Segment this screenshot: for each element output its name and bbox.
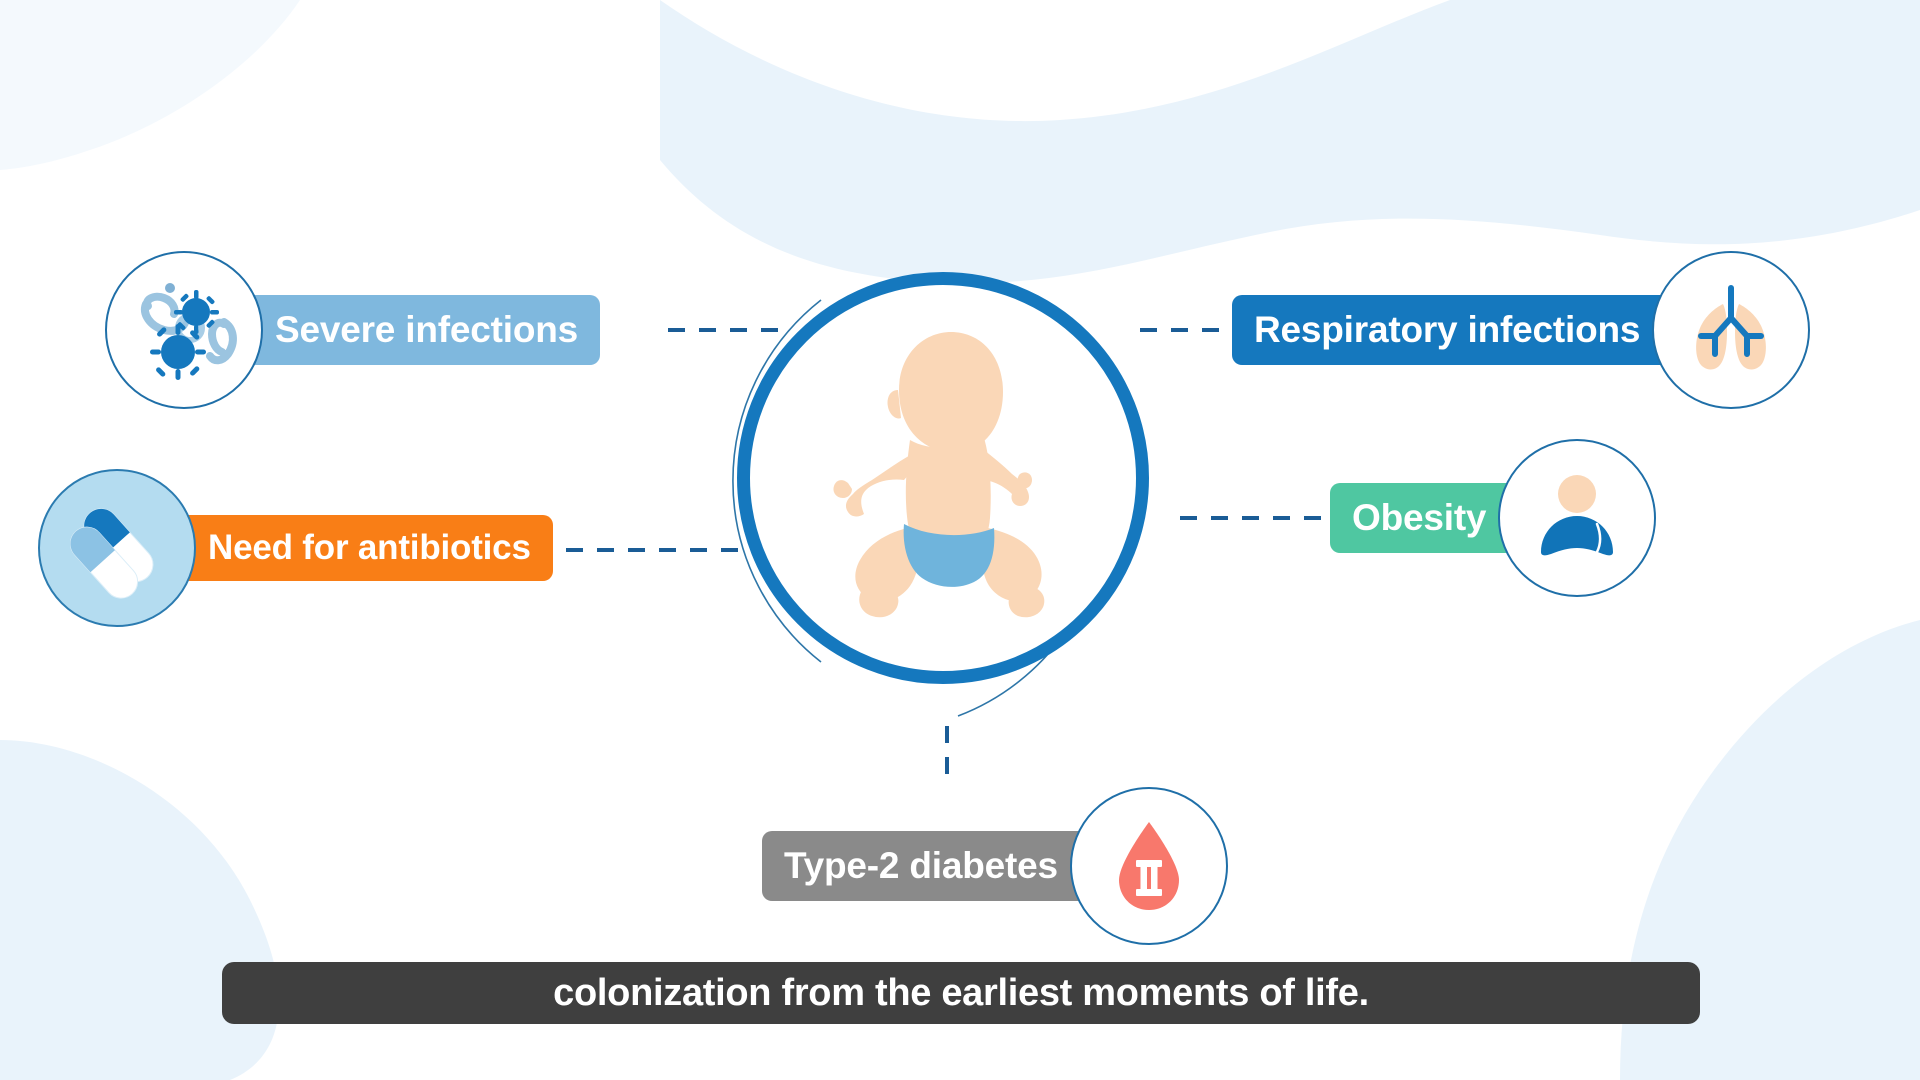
person-icon [1498, 439, 1656, 597]
bacteria-icon [105, 251, 263, 409]
baby-icon [798, 328, 1088, 628]
blood-drop-icon [1070, 787, 1228, 945]
severe-infections-label: Severe infections [275, 309, 578, 351]
node-obesity[interactable]: Obesity [1330, 439, 1656, 597]
respiratory-infections-pill[interactable]: Respiratory infections [1232, 295, 1706, 365]
node-need-for-antibiotics[interactable]: Need for antibiotics [38, 469, 553, 627]
caption-text: colonization from the earliest moments o… [553, 972, 1369, 1015]
respiratory-infections-label: Respiratory infections [1254, 309, 1640, 351]
obesity-label: Obesity [1352, 497, 1486, 539]
pill-capsule-icon [38, 469, 196, 627]
background-blob-top [660, 0, 1920, 283]
background-blob-bottom-left [0, 740, 279, 1080]
node-respiratory-infections[interactable]: Respiratory infections [1232, 251, 1810, 409]
center-hub [737, 272, 1149, 684]
node-severe-infections[interactable]: Severe infections [105, 251, 600, 409]
need-for-antibiotics-label: Need for antibiotics [208, 528, 531, 568]
type-2-diabetes-label: Type-2 diabetes [784, 845, 1058, 887]
background-blob-top-left [0, 0, 300, 170]
node-type-2-diabetes[interactable]: Type-2 diabetes [762, 787, 1228, 945]
severe-infections-pill[interactable]: Severe infections [209, 295, 600, 365]
need-for-antibiotics-pill[interactable]: Need for antibiotics [142, 515, 553, 581]
lungs-icon [1652, 251, 1810, 409]
caption-bar: colonization from the earliest moments o… [222, 962, 1700, 1024]
